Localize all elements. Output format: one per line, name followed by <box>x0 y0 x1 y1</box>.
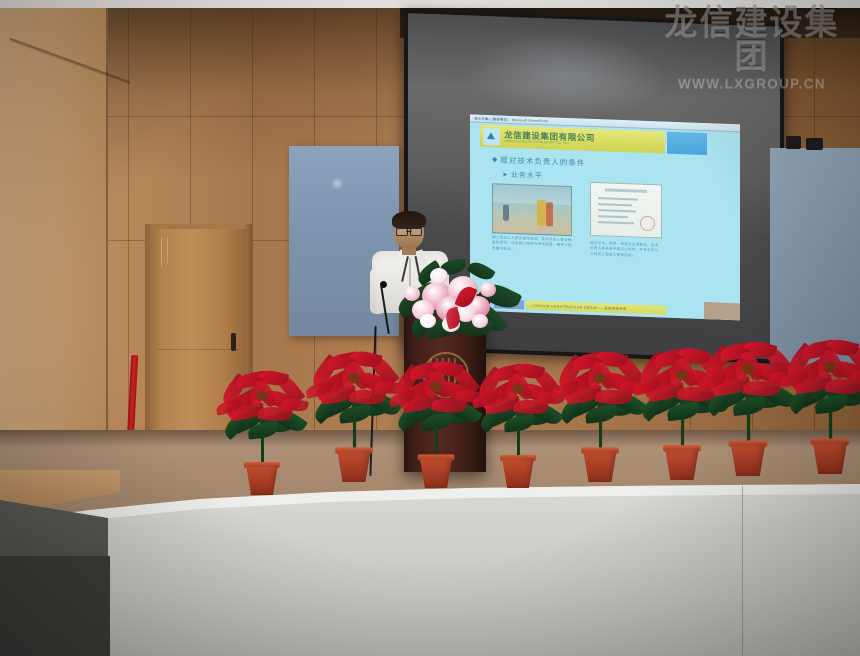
slide-bullet-2: ➤ 业务水平 <box>502 170 543 181</box>
arrow-bullet-icon: ➤ <box>502 171 508 178</box>
flower-pot <box>665 448 699 480</box>
poinsettia-plant <box>214 365 310 495</box>
flower-pot <box>337 451 371 483</box>
bouquet-flower <box>404 286 420 301</box>
microphone-head-icon <box>380 281 387 288</box>
speaker-hair <box>392 211 426 229</box>
poinsettia-bloom <box>778 334 860 427</box>
podium-bouquet <box>396 256 518 338</box>
flower-pot <box>583 451 617 483</box>
slide-left-caption: 施工现场工人安全操作规范，技术负责人要全程跟踪指导，对关键工序进行旁站监督，确保… <box>492 235 572 254</box>
poinsettia-plant <box>778 334 860 474</box>
flower-pot <box>420 457 453 488</box>
diamond-bullet-icon: ◆ <box>492 156 497 163</box>
bouquet-flower <box>480 282 496 297</box>
stage-front-seam <box>742 486 743 656</box>
powerpoint-titlebar-text: 演示文稿1 [兼容模式] - Microsoft PowerPoint <box>474 115 548 123</box>
bouquet-flower <box>420 314 436 328</box>
loudspeaker-right-icon <box>806 138 823 150</box>
slide-bullet-2-text: 业务水平 <box>511 170 543 181</box>
bouquet-flower <box>472 314 488 328</box>
slide-footer-corner <box>704 302 740 320</box>
slide-right-caption: 岗位证书、职称、资格及业绩要求，技术负责人需具备中级以上职称，并有五年以上同类工… <box>590 241 662 260</box>
flower-pot <box>246 465 278 495</box>
slide-site-photo <box>492 183 572 236</box>
wall-diagonal-shadow <box>10 10 130 120</box>
door-handle-icon[interactable] <box>231 333 236 351</box>
house-floor-left <box>0 556 110 656</box>
bouquet-flower <box>430 268 448 284</box>
loudspeaker-left-icon <box>786 136 801 149</box>
flower-pot <box>813 442 848 474</box>
slide-header-banner: 龙信建设集团有限公司 LONGXIN CONSTRUCTION GROUP CO… <box>480 125 665 154</box>
slide-bullet-1: ◆ 提对技术负责人的条件 <box>492 154 585 168</box>
eyeglasses-icon <box>396 228 422 234</box>
slide-footer-text: LONGXIN CONSTRUCTION GROUP — 品质筑就未来 <box>532 302 627 310</box>
conference-hall-photo: 演示文稿1 [兼容模式] - Microsoft PowerPoint 龙信建设… <box>0 0 860 656</box>
slide-header-tab <box>667 132 707 155</box>
flower-pot <box>731 444 766 476</box>
screen-glare <box>464 29 669 123</box>
company-logo-icon <box>483 127 500 145</box>
slide-certificate-image <box>590 182 662 239</box>
acoustic-panel-right <box>770 148 860 363</box>
flower-pot <box>502 458 534 488</box>
slide-footer-banner: LONGXIN CONSTRUCTION GROUP — 品质筑就未来 <box>526 300 666 314</box>
slide-bullet-1-text: 提对技术负责人的条件 <box>500 155 585 169</box>
